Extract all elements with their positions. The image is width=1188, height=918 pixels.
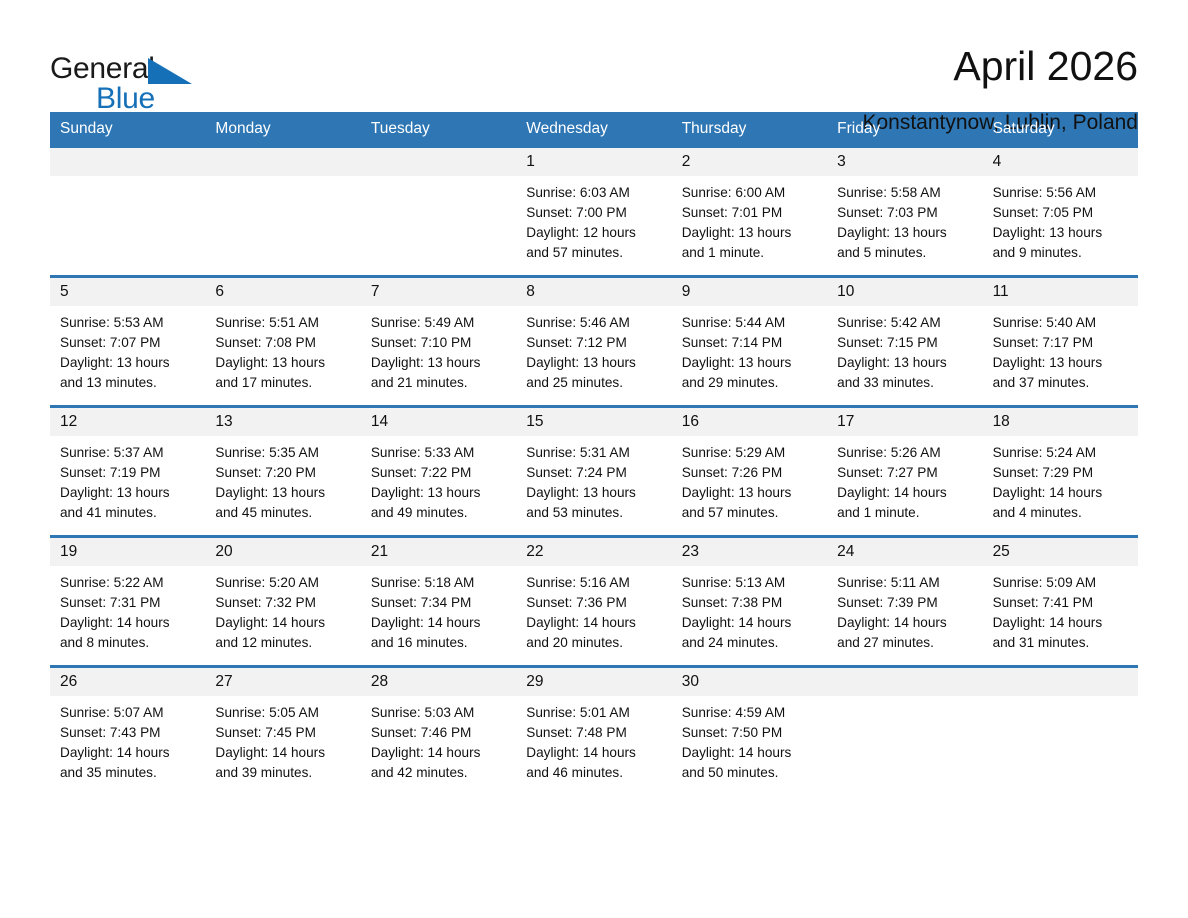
daylight-text-line2: and 39 minutes. [215, 763, 350, 783]
weekday-wednesday: Wednesday [516, 112, 671, 148]
daylight-text-line1: Daylight: 14 hours [60, 743, 195, 763]
sunset-text: Sunset: 7:08 PM [215, 333, 350, 353]
calendar-week-row: 5Sunrise: 5:53 AMSunset: 7:07 PMDaylight… [50, 275, 1138, 396]
sunrise-text: Sunrise: 5:24 AM [993, 443, 1128, 463]
sunrise-text: Sunrise: 5:05 AM [215, 703, 350, 723]
day-number [205, 148, 360, 176]
calendar-day-cell[interactable]: 22Sunrise: 5:16 AMSunset: 7:36 PMDayligh… [516, 538, 671, 656]
day-details: Sunrise: 5:58 AMSunset: 7:03 PMDaylight:… [827, 176, 982, 264]
sunset-text: Sunset: 7:01 PM [682, 203, 817, 223]
day-details: Sunrise: 6:03 AMSunset: 7:00 PMDaylight:… [516, 176, 671, 264]
day-details: Sunrise: 5:51 AMSunset: 7:08 PMDaylight:… [205, 306, 360, 394]
day-number: 2 [672, 148, 827, 176]
day-details: Sunrise: 5:20 AMSunset: 7:32 PMDaylight:… [205, 566, 360, 654]
calendar-day-cell[interactable]: 23Sunrise: 5:13 AMSunset: 7:38 PMDayligh… [672, 538, 827, 656]
daylight-text-line2: and 49 minutes. [371, 503, 506, 523]
daylight-text-line2: and 27 minutes. [837, 633, 972, 653]
day-number [827, 668, 982, 696]
logo-text-blue: Blue [96, 84, 155, 114]
sunrise-text: Sunrise: 5:26 AM [837, 443, 972, 463]
day-number: 3 [827, 148, 982, 176]
calendar-day-cell[interactable]: 7Sunrise: 5:49 AMSunset: 7:10 PMDaylight… [361, 278, 516, 396]
calendar-day-cell[interactable]: 3Sunrise: 5:58 AMSunset: 7:03 PMDaylight… [827, 148, 982, 266]
day-number: 24 [827, 538, 982, 566]
calendar-day-cell[interactable]: 17Sunrise: 5:26 AMSunset: 7:27 PMDayligh… [827, 408, 982, 526]
sunset-text: Sunset: 7:15 PM [837, 333, 972, 353]
day-number: 12 [50, 408, 205, 436]
sunset-text: Sunset: 7:50 PM [682, 723, 817, 743]
day-number: 25 [983, 538, 1138, 566]
daylight-text-line1: Daylight: 14 hours [215, 743, 350, 763]
calendar-day-cell-empty [983, 668, 1138, 786]
daylight-text-line1: Daylight: 14 hours [371, 743, 506, 763]
sunrise-text: Sunrise: 5:58 AM [837, 183, 972, 203]
day-number [983, 668, 1138, 696]
sunrise-text: Sunrise: 5:07 AM [60, 703, 195, 723]
calendar-weeks: 1Sunrise: 6:03 AMSunset: 7:00 PMDaylight… [50, 148, 1138, 786]
calendar-day-cell[interactable]: 16Sunrise: 5:29 AMSunset: 7:26 PMDayligh… [672, 408, 827, 526]
daylight-text-line2: and 53 minutes. [526, 503, 661, 523]
sunrise-text: Sunrise: 5:46 AM [526, 313, 661, 333]
sunrise-text: Sunrise: 5:44 AM [682, 313, 817, 333]
page-title: April 2026 [862, 44, 1138, 89]
calendar-day-cell[interactable]: 12Sunrise: 5:37 AMSunset: 7:19 PMDayligh… [50, 408, 205, 526]
daylight-text-line2: and 25 minutes. [526, 373, 661, 393]
day-number: 13 [205, 408, 360, 436]
calendar-day-cell[interactable]: 14Sunrise: 5:33 AMSunset: 7:22 PMDayligh… [361, 408, 516, 526]
calendar-day-cell[interactable]: 28Sunrise: 5:03 AMSunset: 7:46 PMDayligh… [361, 668, 516, 786]
daylight-text-line1: Daylight: 14 hours [526, 613, 661, 633]
sunrise-text: Sunrise: 5:13 AM [682, 573, 817, 593]
daylight-text-line1: Daylight: 13 hours [682, 483, 817, 503]
day-number: 21 [361, 538, 516, 566]
day-details: Sunrise: 5:46 AMSunset: 7:12 PMDaylight:… [516, 306, 671, 394]
sunrise-text: Sunrise: 5:49 AM [371, 313, 506, 333]
day-details: Sunrise: 5:26 AMSunset: 7:27 PMDaylight:… [827, 436, 982, 524]
day-number [50, 148, 205, 176]
day-details: Sunrise: 6:00 AMSunset: 7:01 PMDaylight:… [672, 176, 827, 264]
daylight-text-line1: Daylight: 13 hours [60, 353, 195, 373]
weekday-tuesday: Tuesday [361, 112, 516, 148]
day-details: Sunrise: 5:16 AMSunset: 7:36 PMDaylight:… [516, 566, 671, 654]
page-header: General Blue April 2026 Konstantynow, Lu… [0, 0, 1188, 112]
calendar-week-row: 1Sunrise: 6:03 AMSunset: 7:00 PMDaylight… [50, 148, 1138, 266]
calendar-day-cell[interactable]: 21Sunrise: 5:18 AMSunset: 7:34 PMDayligh… [361, 538, 516, 656]
day-number: 22 [516, 538, 671, 566]
calendar-day-cell[interactable]: 20Sunrise: 5:20 AMSunset: 7:32 PMDayligh… [205, 538, 360, 656]
weekday-header-row: Sunday Monday Tuesday Wednesday Thursday… [50, 112, 1138, 148]
weekday-thursday: Thursday [672, 112, 827, 148]
daylight-text-line1: Daylight: 13 hours [526, 483, 661, 503]
daylight-text-line1: Daylight: 13 hours [682, 353, 817, 373]
sunrise-text: Sunrise: 5:18 AM [371, 573, 506, 593]
sunrise-text: Sunrise: 5:22 AM [60, 573, 195, 593]
calendar-day-cell[interactable]: 27Sunrise: 5:05 AMSunset: 7:45 PMDayligh… [205, 668, 360, 786]
daylight-text-line1: Daylight: 13 hours [526, 353, 661, 373]
day-details: Sunrise: 5:44 AMSunset: 7:14 PMDaylight:… [672, 306, 827, 394]
daylight-text-line1: Daylight: 14 hours [682, 743, 817, 763]
sunrise-text: Sunrise: 5:40 AM [993, 313, 1128, 333]
daylight-text-line2: and 33 minutes. [837, 373, 972, 393]
day-details: Sunrise: 5:22 AMSunset: 7:31 PMDaylight:… [50, 566, 205, 654]
sunrise-text: Sunrise: 5:03 AM [371, 703, 506, 723]
sunrise-text: Sunrise: 5:42 AM [837, 313, 972, 333]
calendar-grid: Sunday Monday Tuesday Wednesday Thursday… [50, 112, 1138, 786]
calendar-day-cell[interactable]: 4Sunrise: 5:56 AMSunset: 7:05 PMDaylight… [983, 148, 1138, 266]
sunrise-text: Sunrise: 5:33 AM [371, 443, 506, 463]
day-details: Sunrise: 5:05 AMSunset: 7:45 PMDaylight:… [205, 696, 360, 784]
calendar-day-cell[interactable]: 9Sunrise: 5:44 AMSunset: 7:14 PMDaylight… [672, 278, 827, 396]
day-number: 19 [50, 538, 205, 566]
weekday-friday: Friday [827, 112, 982, 148]
calendar-day-cell[interactable]: 25Sunrise: 5:09 AMSunset: 7:41 PMDayligh… [983, 538, 1138, 656]
day-details: Sunrise: 5:56 AMSunset: 7:05 PMDaylight:… [983, 176, 1138, 264]
daylight-text-line2: and 37 minutes. [993, 373, 1128, 393]
sunset-text: Sunset: 7:12 PM [526, 333, 661, 353]
calendar-day-cell[interactable]: 26Sunrise: 5:07 AMSunset: 7:43 PMDayligh… [50, 668, 205, 786]
sunset-text: Sunset: 7:14 PM [682, 333, 817, 353]
daylight-text-line2: and 29 minutes. [682, 373, 817, 393]
day-details: Sunrise: 5:29 AMSunset: 7:26 PMDaylight:… [672, 436, 827, 524]
calendar-day-cell[interactable]: 10Sunrise: 5:42 AMSunset: 7:15 PMDayligh… [827, 278, 982, 396]
calendar-day-cell[interactable]: 19Sunrise: 5:22 AMSunset: 7:31 PMDayligh… [50, 538, 205, 656]
day-number: 26 [50, 668, 205, 696]
sunset-text: Sunset: 7:27 PM [837, 463, 972, 483]
daylight-text-line1: Daylight: 13 hours [60, 483, 195, 503]
day-number: 23 [672, 538, 827, 566]
daylight-text-line2: and 8 minutes. [60, 633, 195, 653]
sunset-text: Sunset: 7:00 PM [526, 203, 661, 223]
sunset-text: Sunset: 7:07 PM [60, 333, 195, 353]
day-number: 20 [205, 538, 360, 566]
sunset-text: Sunset: 7:41 PM [993, 593, 1128, 613]
day-number: 14 [361, 408, 516, 436]
daylight-text-line1: Daylight: 14 hours [215, 613, 350, 633]
day-number: 10 [827, 278, 982, 306]
sunset-text: Sunset: 7:34 PM [371, 593, 506, 613]
daylight-text-line2: and 16 minutes. [371, 633, 506, 653]
sunrise-text: Sunrise: 5:31 AM [526, 443, 661, 463]
daylight-text-line2: and 12 minutes. [215, 633, 350, 653]
day-number: 1 [516, 148, 671, 176]
sunset-text: Sunset: 7:29 PM [993, 463, 1128, 483]
daylight-text-line2: and 24 minutes. [682, 633, 817, 653]
daylight-text-line1: Daylight: 14 hours [526, 743, 661, 763]
logo-text-general: General [50, 54, 155, 84]
day-details: Sunrise: 5:31 AMSunset: 7:24 PMDaylight:… [516, 436, 671, 524]
day-number: 29 [516, 668, 671, 696]
day-details: Sunrise: 5:37 AMSunset: 7:19 PMDaylight:… [50, 436, 205, 524]
daylight-text-line1: Daylight: 13 hours [993, 353, 1128, 373]
sunrise-text: Sunrise: 5:29 AM [682, 443, 817, 463]
calendar-day-cell[interactable]: 29Sunrise: 5:01 AMSunset: 7:48 PMDayligh… [516, 668, 671, 786]
daylight-text-line1: Daylight: 13 hours [215, 483, 350, 503]
day-number: 5 [50, 278, 205, 306]
sunset-text: Sunset: 7:05 PM [993, 203, 1128, 223]
day-details: Sunrise: 5:53 AMSunset: 7:07 PMDaylight:… [50, 306, 205, 394]
calendar-day-cell-empty [361, 148, 516, 266]
sunrise-text: Sunrise: 5:37 AM [60, 443, 195, 463]
daylight-text-line2: and 42 minutes. [371, 763, 506, 783]
sunset-text: Sunset: 7:39 PM [837, 593, 972, 613]
sunset-text: Sunset: 7:36 PM [526, 593, 661, 613]
daylight-text-line1: Daylight: 14 hours [837, 483, 972, 503]
calendar-day-cell-empty [827, 668, 982, 786]
day-number: 16 [672, 408, 827, 436]
daylight-text-line2: and 50 minutes. [682, 763, 817, 783]
daylight-text-line2: and 31 minutes. [993, 633, 1128, 653]
daylight-text-line2: and 45 minutes. [215, 503, 350, 523]
sunrise-text: Sunrise: 5:53 AM [60, 313, 195, 333]
sunset-text: Sunset: 7:43 PM [60, 723, 195, 743]
sunset-text: Sunset: 7:38 PM [682, 593, 817, 613]
calendar-day-cell[interactable]: 6Sunrise: 5:51 AMSunset: 7:08 PMDaylight… [205, 278, 360, 396]
weekday-sunday: Sunday [50, 112, 205, 148]
sunrise-text: Sunrise: 5:09 AM [993, 573, 1128, 593]
day-number: 4 [983, 148, 1138, 176]
day-details: Sunrise: 5:11 AMSunset: 7:39 PMDaylight:… [827, 566, 982, 654]
calendar-page: General Blue April 2026 Konstantynow, Lu… [0, 0, 1188, 918]
day-number: 17 [827, 408, 982, 436]
calendar-day-cell[interactable]: 13Sunrise: 5:35 AMSunset: 7:20 PMDayligh… [205, 408, 360, 526]
sunset-text: Sunset: 7:45 PM [215, 723, 350, 743]
daylight-text-line2: and 9 minutes. [993, 243, 1128, 263]
daylight-text-line2: and 46 minutes. [526, 763, 661, 783]
daylight-text-line1: Daylight: 13 hours [837, 223, 972, 243]
day-number: 7 [361, 278, 516, 306]
daylight-text-line1: Daylight: 13 hours [215, 353, 350, 373]
sunset-text: Sunset: 7:10 PM [371, 333, 506, 353]
daylight-text-line2: and 4 minutes. [993, 503, 1128, 523]
sunset-text: Sunset: 7:48 PM [526, 723, 661, 743]
calendar-day-cell[interactable]: 8Sunrise: 5:46 AMSunset: 7:12 PMDaylight… [516, 278, 671, 396]
sunset-text: Sunset: 7:24 PM [526, 463, 661, 483]
daylight-text-line1: Daylight: 13 hours [371, 353, 506, 373]
day-details: Sunrise: 5:49 AMSunset: 7:10 PMDaylight:… [361, 306, 516, 394]
calendar-day-cell[interactable]: 11Sunrise: 5:40 AMSunset: 7:17 PMDayligh… [983, 278, 1138, 396]
calendar-day-cell-empty [50, 148, 205, 266]
daylight-text-line2: and 35 minutes. [60, 763, 195, 783]
sunrise-text: Sunrise: 5:51 AM [215, 313, 350, 333]
sunrise-text: Sunrise: 4:59 AM [682, 703, 817, 723]
day-number: 11 [983, 278, 1138, 306]
day-details: Sunrise: 5:13 AMSunset: 7:38 PMDaylight:… [672, 566, 827, 654]
calendar-day-cell[interactable]: 30Sunrise: 4:59 AMSunset: 7:50 PMDayligh… [672, 668, 827, 786]
sunset-text: Sunset: 7:03 PM [837, 203, 972, 223]
daylight-text-line1: Daylight: 13 hours [993, 223, 1128, 243]
daylight-text-line1: Daylight: 13 hours [371, 483, 506, 503]
day-details: Sunrise: 5:18 AMSunset: 7:34 PMDaylight:… [361, 566, 516, 654]
sunset-text: Sunset: 7:46 PM [371, 723, 506, 743]
sunrise-text: Sunrise: 5:56 AM [993, 183, 1128, 203]
day-details: Sunrise: 5:40 AMSunset: 7:17 PMDaylight:… [983, 306, 1138, 394]
calendar-day-cell[interactable]: 15Sunrise: 5:31 AMSunset: 7:24 PMDayligh… [516, 408, 671, 526]
day-details: Sunrise: 5:09 AMSunset: 7:41 PMDaylight:… [983, 566, 1138, 654]
day-number: 15 [516, 408, 671, 436]
sunset-text: Sunset: 7:20 PM [215, 463, 350, 483]
calendar-day-cell[interactable]: 2Sunrise: 6:00 AMSunset: 7:01 PMDaylight… [672, 148, 827, 266]
day-details: Sunrise: 4:59 AMSunset: 7:50 PMDaylight:… [672, 696, 827, 784]
day-details: Sunrise: 5:33 AMSunset: 7:22 PMDaylight:… [361, 436, 516, 524]
sunset-text: Sunset: 7:32 PM [215, 593, 350, 613]
day-details: Sunrise: 5:35 AMSunset: 7:20 PMDaylight:… [205, 436, 360, 524]
logo-triangle-icon [148, 58, 192, 84]
day-number: 30 [672, 668, 827, 696]
day-number: 18 [983, 408, 1138, 436]
daylight-text-line1: Daylight: 14 hours [837, 613, 972, 633]
daylight-text-line1: Daylight: 14 hours [60, 613, 195, 633]
calendar-day-cell[interactable]: 1Sunrise: 6:03 AMSunset: 7:00 PMDaylight… [516, 148, 671, 266]
calendar-day-cell[interactable]: 18Sunrise: 5:24 AMSunset: 7:29 PMDayligh… [983, 408, 1138, 526]
daylight-text-line2: and 21 minutes. [371, 373, 506, 393]
weekday-saturday: Saturday [983, 112, 1138, 148]
day-number: 8 [516, 278, 671, 306]
calendar-day-cell-empty [205, 148, 360, 266]
daylight-text-line1: Daylight: 14 hours [993, 483, 1128, 503]
day-number: 6 [205, 278, 360, 306]
sunrise-text: Sunrise: 5:01 AM [526, 703, 661, 723]
daylight-text-line1: Daylight: 13 hours [837, 353, 972, 373]
sunrise-text: Sunrise: 5:20 AM [215, 573, 350, 593]
calendar-week-row: 19Sunrise: 5:22 AMSunset: 7:31 PMDayligh… [50, 535, 1138, 656]
general-blue-logo: General Blue [50, 44, 210, 112]
daylight-text-line2: and 41 minutes. [60, 503, 195, 523]
daylight-text-line2: and 1 minute. [837, 503, 972, 523]
sunset-text: Sunset: 7:31 PM [60, 593, 195, 613]
sunset-text: Sunset: 7:17 PM [993, 333, 1128, 353]
calendar-week-row: 12Sunrise: 5:37 AMSunset: 7:19 PMDayligh… [50, 405, 1138, 526]
weekday-monday: Monday [205, 112, 360, 148]
day-details: Sunrise: 5:07 AMSunset: 7:43 PMDaylight:… [50, 696, 205, 784]
daylight-text-line1: Daylight: 12 hours [526, 223, 661, 243]
daylight-text-line2: and 13 minutes. [60, 373, 195, 393]
daylight-text-line1: Daylight: 14 hours [682, 613, 817, 633]
sunset-text: Sunset: 7:26 PM [682, 463, 817, 483]
sunset-text: Sunset: 7:19 PM [60, 463, 195, 483]
daylight-text-line1: Daylight: 14 hours [371, 613, 506, 633]
sunrise-text: Sunrise: 5:35 AM [215, 443, 350, 463]
daylight-text-line2: and 1 minute. [682, 243, 817, 263]
calendar-day-cell[interactable]: 24Sunrise: 5:11 AMSunset: 7:39 PMDayligh… [827, 538, 982, 656]
sunrise-text: Sunrise: 5:11 AM [837, 573, 972, 593]
calendar-week-row: 26Sunrise: 5:07 AMSunset: 7:43 PMDayligh… [50, 665, 1138, 786]
sunrise-text: Sunrise: 5:16 AM [526, 573, 661, 593]
daylight-text-line2: and 17 minutes. [215, 373, 350, 393]
day-details: Sunrise: 5:24 AMSunset: 7:29 PMDaylight:… [983, 436, 1138, 524]
calendar-day-cell[interactable]: 5Sunrise: 5:53 AMSunset: 7:07 PMDaylight… [50, 278, 205, 396]
daylight-text-line2: and 5 minutes. [837, 243, 972, 263]
sunrise-text: Sunrise: 6:00 AM [682, 183, 817, 203]
daylight-text-line1: Daylight: 14 hours [993, 613, 1128, 633]
day-details: Sunrise: 5:01 AMSunset: 7:48 PMDaylight:… [516, 696, 671, 784]
sunset-text: Sunset: 7:22 PM [371, 463, 506, 483]
day-number: 28 [361, 668, 516, 696]
daylight-text-line2: and 57 minutes. [682, 503, 817, 523]
day-number [361, 148, 516, 176]
daylight-text-line2: and 57 minutes. [526, 243, 661, 263]
day-details: Sunrise: 5:03 AMSunset: 7:46 PMDaylight:… [361, 696, 516, 784]
day-number: 27 [205, 668, 360, 696]
sunrise-text: Sunrise: 6:03 AM [526, 183, 661, 203]
day-number: 9 [672, 278, 827, 306]
daylight-text-line2: and 20 minutes. [526, 633, 661, 653]
daylight-text-line1: Daylight: 13 hours [682, 223, 817, 243]
day-details: Sunrise: 5:42 AMSunset: 7:15 PMDaylight:… [827, 306, 982, 394]
